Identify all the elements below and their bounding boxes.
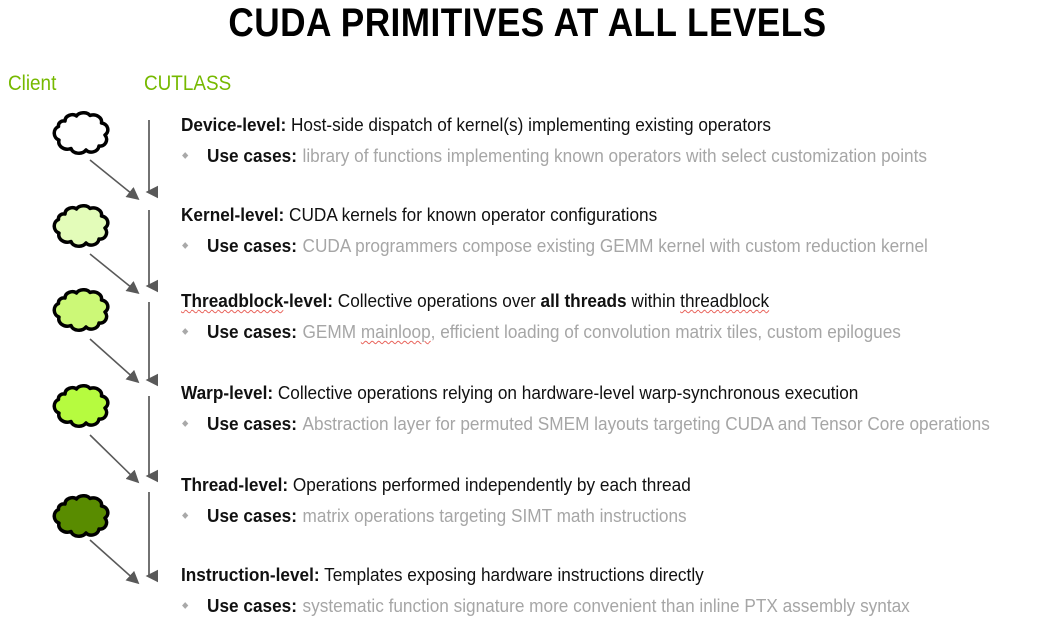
cloud-thread	[50, 494, 112, 540]
cloud-device	[50, 111, 112, 157]
level-title-lead: Warp-level:	[181, 382, 273, 403]
usecase-text: systematic function signature more conve…	[303, 595, 910, 617]
level-title-rest: Templates exposing hardware instructions…	[320, 564, 704, 585]
cloud-kernel	[50, 204, 112, 250]
level-title-misspelled-word: threadblock	[680, 290, 769, 311]
usecase-row-thread: Use cases: matrix operations targeting S…	[181, 505, 985, 527]
usecase-row-device: Use cases: library of functions implemen…	[181, 145, 985, 167]
cloud-threadblock	[50, 288, 112, 334]
level-block-kernel: Kernel-level: CUDA kernels for known ope…	[181, 204, 1046, 257]
level-title-lead: Device-level:	[181, 114, 286, 135]
cutlass-arrow-4	[140, 394, 158, 486]
client-arrow-3	[88, 337, 148, 391]
usecase-text: matrix operations targeting SIMT math in…	[303, 505, 687, 527]
level-title-lead: Instruction-level:	[181, 564, 320, 585]
level-title-rest: Collective operations relying on hardwar…	[273, 382, 858, 403]
cloud-warp	[50, 384, 112, 430]
usecase-text: GEMM mainloop, efficient loading of conv…	[303, 321, 901, 343]
usecase-text-part-a: GEMM	[303, 321, 361, 342]
usecase-row-kernel: Use cases: CUDA programmers compose exis…	[181, 235, 985, 257]
client-arrow-1	[88, 158, 148, 208]
usecase-label: Use cases:	[207, 235, 297, 257]
level-title-instruction: Instruction-level: Templates exposing ha…	[181, 564, 985, 586]
cutlass-arrow-5	[140, 490, 158, 586]
bullet-icon	[182, 152, 188, 159]
usecase-text: CUDA programmers compose existing GEMM k…	[303, 235, 928, 257]
bullet-icon	[182, 512, 188, 519]
usecase-row-threadblock: Use cases: GEMM mainloop, efficient load…	[181, 321, 985, 343]
level-block-thread: Thread-level: Operations performed indep…	[181, 474, 1046, 527]
cutlass-arrow-2	[140, 208, 158, 296]
usecase-label: Use cases:	[207, 321, 297, 343]
level-title-threadblock: Threadblock-level: Collective operations…	[181, 290, 985, 312]
level-title-lead-misspelled: Threadblock	[181, 290, 283, 311]
level-block-threadblock: Threadblock-level: Collective operations…	[181, 290, 1046, 343]
level-title-rest: Host-side dispatch of kernel(s) implemen…	[286, 114, 771, 135]
usecase-text-part-b: , efficient loading of convolution matri…	[431, 321, 901, 342]
level-title-warp: Warp-level: Collective operations relyin…	[181, 382, 985, 404]
level-title-lead: Kernel-level:	[181, 204, 284, 225]
usecase-text: library of functions implementing known …	[303, 145, 927, 167]
usecase-misspelled-word: mainloop	[361, 321, 431, 342]
usecase-label: Use cases:	[207, 505, 297, 527]
level-title-lead: Thread-level:	[181, 474, 288, 495]
usecase-row-instruction: Use cases: systematic function signature…	[181, 595, 985, 617]
level-block-device: Device-level: Host-side dispatch of kern…	[181, 114, 1046, 167]
column-header-client: Client	[8, 72, 56, 96]
cutlass-arrow-3	[140, 300, 158, 390]
level-title-rest: Operations performed independently by ea…	[288, 474, 691, 495]
bullet-icon	[182, 420, 188, 427]
usecase-row-warp: Use cases: Abstraction layer for permute…	[181, 413, 985, 435]
level-block-instruction: Instruction-level: Templates exposing ha…	[181, 564, 1046, 617]
usecase-text: Abstraction layer for permuted SMEM layo…	[303, 413, 990, 435]
column-header-cutlass: CUTLASS	[144, 72, 231, 96]
level-block-warp: Warp-level: Collective operations relyin…	[181, 382, 1046, 435]
level-title-thread: Thread-level: Operations performed indep…	[181, 474, 985, 496]
level-title-lead-suffix: -level:	[283, 290, 333, 311]
client-arrow-4	[88, 433, 148, 491]
bullet-icon	[182, 602, 188, 609]
bullet-icon	[182, 328, 188, 335]
level-title-part-a: Collective operations over	[333, 290, 541, 311]
page-title: CUDA PRIMITIVES AT ALL LEVELS	[63, 0, 991, 46]
level-title-device: Device-level: Host-side dispatch of kern…	[181, 114, 985, 136]
level-title-emphasis: all threads	[541, 290, 627, 311]
usecase-label: Use cases:	[207, 145, 297, 167]
level-title-kernel: Kernel-level: CUDA kernels for known ope…	[181, 204, 985, 226]
usecase-label: Use cases:	[207, 595, 297, 617]
bullet-icon	[182, 242, 188, 249]
level-title-rest: CUDA kernels for known operator configur…	[284, 204, 657, 225]
level-title-part-b: within	[627, 290, 681, 311]
cutlass-arrow-1	[140, 118, 158, 202]
client-arrow-5	[88, 538, 148, 592]
usecase-label: Use cases:	[207, 413, 297, 435]
